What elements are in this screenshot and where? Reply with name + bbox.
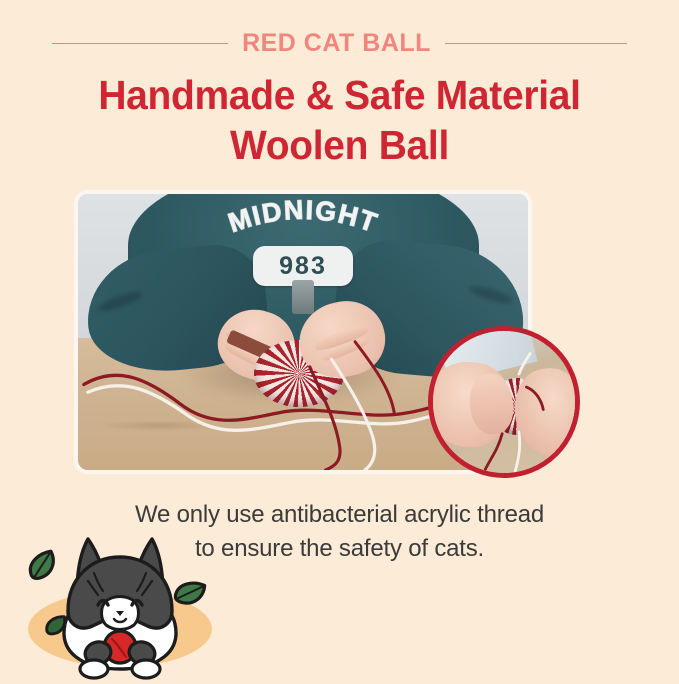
page-title: Handmade & Safe Material Woolen Ball	[17, 70, 662, 170]
cat-left-foot	[80, 660, 108, 678]
leaf-icon	[174, 579, 205, 607]
divider-right-icon	[445, 43, 627, 44]
headline-line-2: Woolen Ball	[17, 120, 662, 170]
detail-inset-circle	[428, 326, 580, 478]
divider-left-icon	[52, 43, 228, 44]
inset-yarn-strands	[433, 331, 575, 473]
infographic-page: RED CAT BALL Handmade & Safe Material Wo…	[0, 0, 679, 679]
leaf-icon	[26, 551, 58, 580]
cat-mascot-illustration	[2, 527, 238, 679]
eyebrow-label: RED CAT BALL	[242, 31, 431, 56]
eyebrow-row: RED CAT BALL	[0, 28, 679, 58]
cat-right-foot	[132, 660, 160, 678]
headline-line-1: Handmade & Safe Material	[17, 70, 662, 120]
